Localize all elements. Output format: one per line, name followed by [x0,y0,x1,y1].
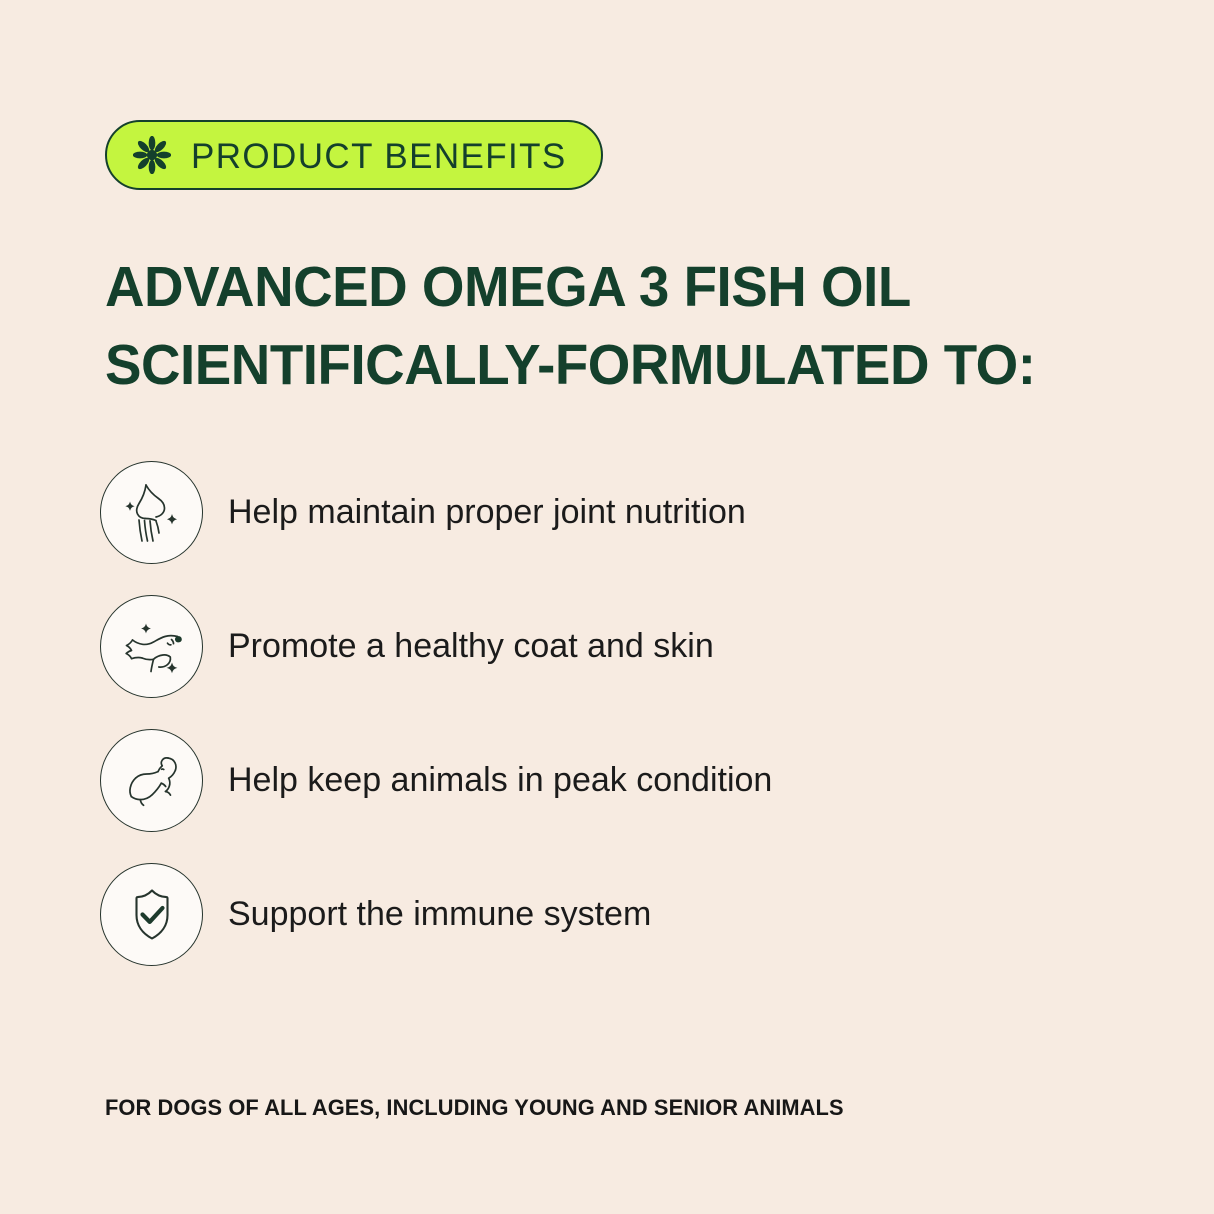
dog-head-icon [100,595,203,698]
shield-check-icon [100,863,203,966]
list-item: Promote a healthy coat and skin [100,595,772,698]
list-item: Help maintain proper joint nutrition [100,461,772,564]
list-item: Help keep animals in peak condition [100,729,772,832]
product-benefits-card: PRODUCT BENEFITS ADVANCED OMEGA 3 FISH O… [0,0,1214,1214]
page-title-line-2: SCIENTIFICALLY-FORMULATED TO: [105,326,1075,404]
page-title-line-1: ADVANCED OMEGA 3 FISH OIL [105,248,1075,326]
leaping-dog-icon [100,729,203,832]
benefit-label: Help maintain proper joint nutrition [228,492,746,533]
knee-joint-icon [100,461,203,564]
product-benefits-badge: PRODUCT BENEFITS [105,120,603,190]
benefits-list: Help maintain proper joint nutrition [100,461,772,997]
page-title: ADVANCED OMEGA 3 FISH OIL SCIENTIFICALLY… [105,248,1075,404]
asterisk-icon [133,136,171,174]
footer-note: FOR DOGS OF ALL AGES, INCLUDING YOUNG AN… [105,1095,844,1121]
badge-label: PRODUCT BENEFITS [191,139,567,174]
list-item: Support the immune system [100,863,772,966]
benefit-label: Promote a healthy coat and skin [228,626,714,667]
benefit-label: Support the immune system [228,894,651,935]
benefit-label: Help keep animals in peak condition [228,760,772,801]
